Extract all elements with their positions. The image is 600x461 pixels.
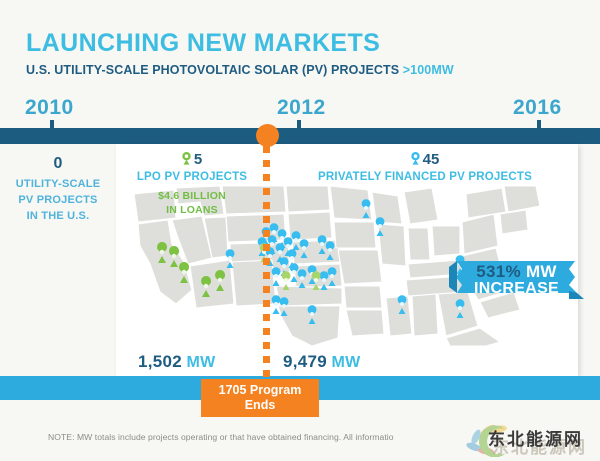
map-pin-icon: [411, 152, 420, 168]
left-count: 0: [4, 156, 112, 172]
lpo-loans: $4.6 BILLION IN LOANS: [122, 189, 262, 217]
left-label-line1: UTILITY-SCALE: [4, 177, 112, 193]
timeline-year-2016: 2016: [513, 96, 562, 120]
timeline-marker-dot: [256, 124, 279, 147]
lpo-loans-line2: IN LOANS: [122, 203, 262, 217]
mw-increase-banner: 531% MW INCREASE: [449, 257, 584, 303]
page-subtitle: U.S. UTILITY-SCALE PHOTOVOLTAIC SOLAR (P…: [26, 64, 576, 78]
left-label-line2: PV PROJECTS: [4, 193, 112, 209]
left-label-line3: IN THE U.S.: [4, 209, 112, 225]
lpo-loans-line1: $4.6 BILLION: [122, 189, 262, 203]
page-title: LAUNCHING NEW MARKETS: [26, 30, 576, 56]
subtitle-main: U.S. UTILITY-SCALE PHOTOVOLTAIC SOLAR (P…: [26, 63, 403, 77]
mw-increase-unit: MW: [526, 262, 557, 281]
private-stat: 45 PRIVATELY FINANCED PV PROJECTS: [285, 152, 565, 183]
timeline-bar: [0, 128, 600, 144]
watermark: 东北能源网 东北能源网: [462, 419, 594, 457]
timeline-tick-2016: [537, 120, 541, 128]
mw-increase-percent: 531%: [476, 262, 521, 281]
private-count-row: 45: [285, 152, 565, 168]
mw-increase-text: 531% MW INCREASE: [449, 257, 584, 303]
lpo-label: LPO PV PROJECTS: [122, 171, 262, 183]
infographic-canvas: LAUNCHING NEW MARKETS U.S. UTILITY-SCALE…: [0, 0, 600, 461]
lpo-count: 5: [194, 151, 202, 168]
map-pin-icon: [182, 152, 191, 168]
timeline-year-2010: 2010: [25, 96, 74, 120]
program-end-badge: 1705 ProgramEnds: [201, 379, 319, 417]
private-count: 45: [423, 151, 440, 168]
subtitle-highlight: >100MW: [403, 63, 454, 77]
program-end-line2: Ends: [245, 398, 276, 412]
timeline-tick-2012: [297, 120, 301, 128]
timeline-tick-2010: [50, 120, 54, 128]
header: LAUNCHING NEW MARKETS U.S. UTILITY-SCALE…: [26, 30, 576, 78]
private-label: PRIVATELY FINANCED PV PROJECTS: [285, 171, 565, 183]
program-end-text: 1705 ProgramEnds: [219, 383, 302, 414]
mw-increase-line1: 531% MW: [476, 263, 557, 280]
mw-increase-line2: INCREASE: [474, 281, 559, 297]
left-column-stat: 0 UTILITY-SCALE PV PROJECTS IN THE U.S.: [4, 156, 112, 225]
lpo-count-row: 5: [122, 152, 262, 168]
left-label: UTILITY-SCALE PV PROJECTS IN THE U.S.: [4, 177, 112, 225]
footnote: NOTE: MW totals include projects operati…: [48, 432, 488, 442]
program-end-line1: 1705 Program: [219, 383, 302, 397]
watermark-text: 东北能源网: [488, 425, 583, 450]
lpo-stat: 5 LPO PV PROJECTS $4.6 BILLION IN LOANS: [122, 152, 262, 217]
timeline-year-2012: 2012: [277, 96, 326, 120]
timeline-divider-dashed: [263, 146, 270, 380]
